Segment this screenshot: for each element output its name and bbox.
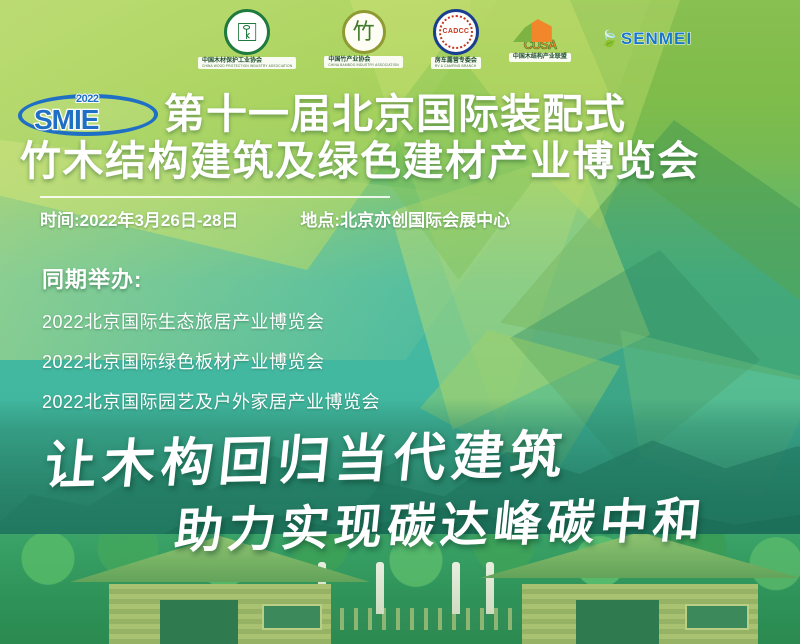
pine-tree-icon: ⚿	[237, 19, 257, 45]
expo-poster: ⚿ 中国木材保护工业协会 CHINA WOOD PROTECTION INDUS…	[0, 0, 800, 644]
concurrent-heading: 同期举办:	[42, 262, 380, 294]
logo-caption-en: CHINA BAMBOO INDUSTRY ASSOCIATION	[328, 64, 399, 68]
bamboo-seal-icon: 竹	[342, 10, 386, 54]
sponsor-logo-row: ⚿ 中国木材保护工业协会 CHINA WOOD PROTECTION INDUS…	[0, 6, 800, 72]
leaf-icon: 🍃	[599, 29, 619, 49]
title-block: 2022 SMIE 第十一届北京国际装配式 竹木结构建筑及绿色建材产业博览会	[0, 92, 800, 183]
logo-caption: 中国木材保护工业协会 CHINA WOOD PROTECTION INDUSTR…	[198, 57, 296, 70]
logo-caption: 中国竹产业协会 CHINA BAMBOO INDUSTRY ASSOCIATIO…	[324, 56, 403, 69]
slogan-line-2: 助力实现碳达峰碳中和	[172, 480, 710, 561]
event-venue: 地点:北京亦创国际会展中心	[300, 206, 510, 231]
wood-protection-seal-icon: ⚿	[224, 9, 270, 55]
smie-acronym: SMIE	[34, 104, 98, 136]
logo-china-bamboo-industry-association: 竹 中国竹产业协会 CHINA BAMBOO INDUSTRY ASSOCIAT…	[324, 10, 403, 69]
logo-cusa: CUSA 中国木结构产业联盟	[509, 16, 571, 62]
event-date: 时间:2022年3月26日-28日	[40, 206, 238, 231]
logo-senmei: 🍃 SENMEI	[599, 29, 692, 49]
logo-caption: 中国木结构产业联盟	[509, 53, 571, 62]
title-divider	[40, 196, 390, 198]
logo-caption-cn: 中国竹产业协会	[328, 57, 370, 63]
cadcc-seal-icon: CADCC	[433, 9, 479, 55]
senmei-mark-icon: 🍃 SENMEI	[599, 29, 692, 49]
concurrent-item: 2022北京国际生态旅居产业博览会	[42, 308, 380, 334]
smie-logo: 2022 SMIE	[18, 92, 158, 138]
cabin-window	[685, 604, 749, 630]
logo-caption-cn: 房车露营专委会	[435, 58, 477, 64]
cabin-door	[576, 600, 659, 644]
cadcc-ring-icon: CADCC	[439, 15, 473, 49]
cusa-mark-icon: CUSA	[513, 16, 567, 51]
concurrent-item: 2022北京国际园艺及户外家居产业博览会	[42, 388, 380, 414]
concurrent-events: 同期举办: 2022北京国际生态旅居产业博览会 2022北京国际绿色板材产业博览…	[42, 262, 380, 414]
patio-umbrella	[452, 562, 460, 614]
patio-umbrella	[376, 562, 384, 614]
cabin-window	[262, 604, 322, 630]
page-title-line-1: 第十一届北京国际装配式	[164, 93, 626, 136]
logo-cadcc: CADCC 房车露营专委会 RV & CAMPING BRANCH	[431, 9, 481, 70]
logo-caption-en: RV & CAMPING BRANCH	[435, 65, 477, 69]
concurrent-item: 2022北京国际绿色板材产业博览会	[42, 348, 380, 374]
event-meta: 时间:2022年3月26日-28日 地点:北京亦创国际会展中心	[40, 206, 510, 231]
cabin-door	[160, 600, 238, 644]
cadcc-abbr: CADCC	[443, 28, 470, 35]
logo-caption-en: CHINA WOOD PROTECTION INDUSTRY ASSOCIATI…	[202, 65, 292, 69]
logo-china-wood-protection-association: ⚿ 中国木材保护工业协会 CHINA WOOD PROTECTION INDUS…	[198, 9, 296, 70]
bamboo-icon: 竹	[353, 21, 375, 43]
house-roof-icon	[513, 16, 567, 42]
logo-caption: 房车露营专委会 RV & CAMPING BRANCH	[431, 57, 481, 70]
title-row-1: 2022 SMIE 第十一届北京国际装配式	[18, 92, 782, 138]
logo-caption-cn: 中国木材保护工业协会	[202, 58, 262, 64]
page-title-line-2: 竹木结构建筑及绿色建材产业博览会	[18, 140, 782, 183]
senmei-wordmark: SENMEI	[621, 29, 692, 49]
logo-caption-cn: 中国木结构产业联盟	[513, 54, 567, 60]
